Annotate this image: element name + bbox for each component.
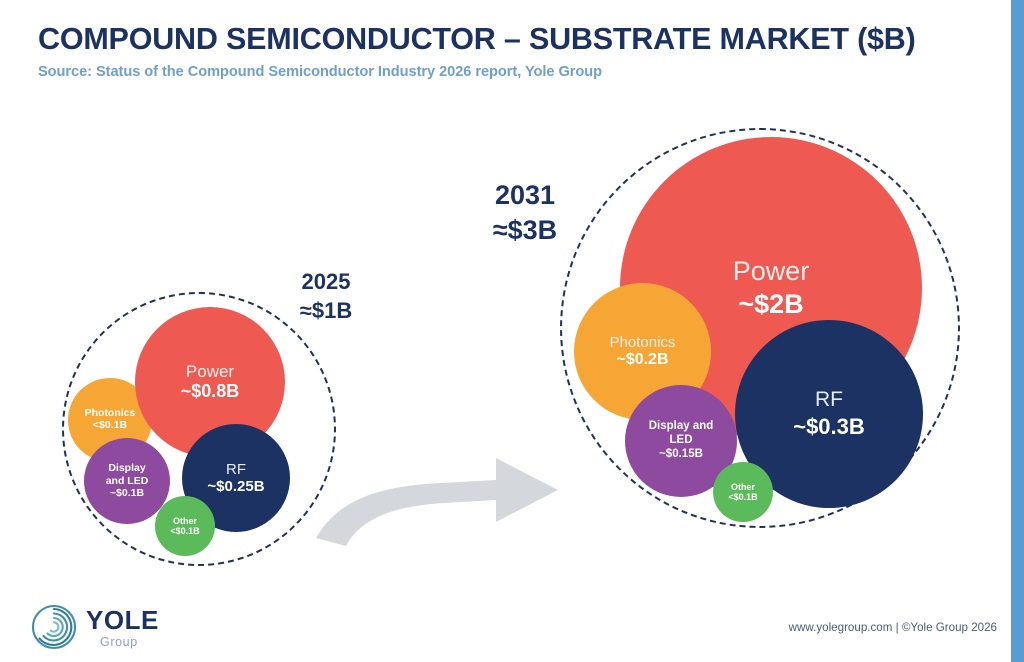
bubble-label-power: Power <box>186 362 234 381</box>
year-2031: 2031 <box>462 178 588 213</box>
yole-logo: YOLE Group <box>30 603 190 651</box>
year-total-2031: ≈$3B <box>462 213 588 248</box>
bubble-value-photonics: <$0.1B <box>93 420 127 432</box>
bubble-label-power: Power <box>733 256 810 287</box>
bubble-label-rf: RF <box>815 388 843 412</box>
bubble-2025-rf[interactable]: RF ~$0.25B <box>182 424 290 532</box>
cluster-2031: Power ~$2B Photonics ~$0.2B Display and … <box>0 0 1024 662</box>
bubble-value-other: <$0.1B <box>170 526 199 536</box>
bubble-value-other: <$0.1B <box>728 492 757 502</box>
bubble-2031-other[interactable]: Other <$0.1B <box>713 462 773 522</box>
bubble-value-rf: ~$0.3B <box>793 414 865 439</box>
bubble-label-display: Display and LED <box>99 462 155 487</box>
bubble-2025-power[interactable]: Power ~$0.8B <box>135 307 285 457</box>
bubble-label-photonics: Photonics <box>85 408 136 420</box>
yole-logo-text: YOLE Group <box>86 607 159 649</box>
page-title: COMPOUND SEMICONDUCTOR – SUBSTRATE MARKE… <box>38 22 968 56</box>
header: COMPOUND SEMICONDUCTOR – SUBSTRATE MARKE… <box>38 22 968 82</box>
bubble-2025-photonics[interactable]: Photonics <$0.1B <box>68 378 152 462</box>
right-accent-bar <box>1011 0 1024 662</box>
bubble-value-rf: ~$0.25B <box>207 478 264 495</box>
bubble-label-other: Other <box>173 516 197 526</box>
slide-canvas: COMPOUND SEMICONDUCTOR – SUBSTRATE MARKE… <box>0 0 1024 662</box>
bubble-value-power: ~$0.8B <box>181 381 240 402</box>
yole-spiral-icon <box>30 604 78 650</box>
year-label-2031: 2031 ≈$3B <box>462 178 588 248</box>
growth-arrow-icon <box>300 438 600 553</box>
cluster-ring-2031 <box>560 128 960 528</box>
logo-group-text: Group <box>100 636 159 649</box>
bubble-label-photonics: Photonics <box>610 334 676 351</box>
bubble-2031-display[interactable]: Display and LED ~$0.15B <box>625 385 737 497</box>
year-total-2025: ≈$1B <box>268 297 384 326</box>
bubble-value-power: ~$2B <box>738 289 803 320</box>
bubble-label-display: Display and LED <box>644 420 718 448</box>
year-label-2025: 2025 ≈$1B <box>268 268 384 325</box>
bubble-2031-photonics[interactable]: Photonics ~$0.2B <box>574 283 711 420</box>
year-2025: 2025 <box>268 268 384 297</box>
bubble-value-display: ~$0.15B <box>659 448 703 462</box>
source-subtitle: Source: Status of the Compound Semicondu… <box>38 64 968 82</box>
footer-credit: www.yolegroup.com | ©Yole Group 2026 <box>789 621 997 634</box>
cluster-ring-2025 <box>62 292 336 566</box>
bubble-2031-rf[interactable]: RF ~$0.3B <box>735 320 923 508</box>
bubble-label-other: Other <box>731 482 755 492</box>
bubble-value-photonics: ~$0.2B <box>616 351 668 369</box>
cluster-2025: Power ~$0.8B Photonics <$0.1B Display an… <box>0 0 1024 662</box>
bubble-2031-power[interactable]: Power ~$2B <box>620 137 922 439</box>
bubble-value-display: ~$0.1B <box>110 487 144 499</box>
growth-arrow <box>300 438 600 553</box>
bubble-2025-other[interactable]: Other <$0.1B <box>155 496 215 556</box>
bubble-2025-display[interactable]: Display and LED ~$0.1B <box>84 438 170 524</box>
bubble-label-rf: RF <box>226 461 246 478</box>
logo-yole-text: YOLE <box>86 607 159 633</box>
